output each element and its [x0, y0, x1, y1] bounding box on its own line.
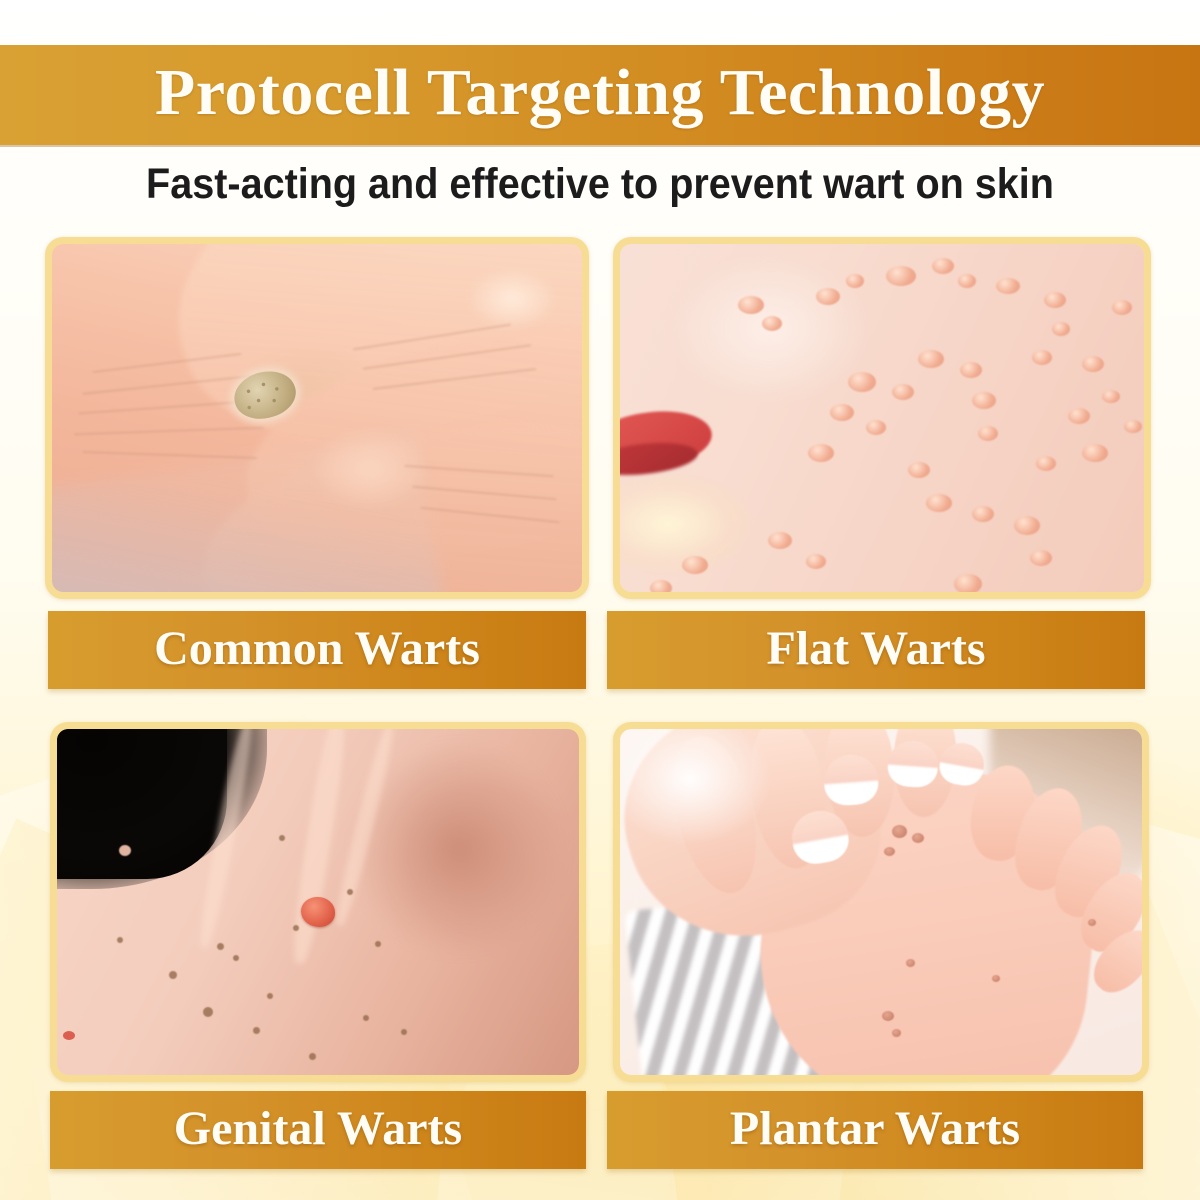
card-label-text: Genital Warts [174, 1105, 462, 1156]
card-label-genital-warts: Genital Warts [50, 1091, 586, 1169]
photo-shape-table-shadow [52, 430, 443, 592]
photo-feature-mole [233, 955, 239, 961]
photo-feature-plantar-wart [892, 825, 907, 838]
photo-shape-skin-crease [412, 486, 557, 501]
photo-feature-mole [267, 993, 273, 999]
photo-feature-flat-wart [682, 556, 708, 574]
photo-feature-flat-wart [1014, 516, 1040, 535]
promo-banner-page: Protocell Targeting Technology Fast-acti… [0, 0, 1200, 1200]
photo-feature-mole [375, 941, 381, 947]
photo-shape-skin-crease [420, 507, 559, 524]
photo-feature-flat-wart [848, 372, 876, 392]
photo-feature-flat-wart [972, 506, 994, 522]
photo-frame-plantar-warts [613, 722, 1149, 1082]
photo-feature-flat-wart [1044, 292, 1066, 308]
photo-feature-flat-wart [1082, 444, 1108, 462]
photo-shape-highlight [620, 729, 800, 869]
photo-shape-chin-highlight [620, 476, 748, 572]
photo-feature-flat-wart [1102, 390, 1120, 403]
photo-feature-flat-wart [958, 274, 976, 288]
photo-shape-skin-crease [82, 375, 251, 395]
photo-feature-flat-wart [650, 580, 672, 592]
photo-shape-skin-crease [404, 465, 554, 477]
photo-feature-flat-wart [954, 574, 982, 592]
card-label-text: Plantar Warts [730, 1105, 1020, 1156]
photo-feature-plantar-wart [912, 833, 924, 843]
photo-shape-skin-crease [353, 323, 511, 350]
photo-feature-red-spot [63, 1031, 75, 1040]
card-label-flat-warts: Flat Warts [607, 611, 1145, 689]
photo-feature-mole [253, 1027, 260, 1034]
photo-feature-flat-wart [886, 266, 916, 286]
photo-feature-mole [363, 1015, 369, 1021]
photo-feature-plantar-wart [892, 1029, 901, 1037]
photo-feature-flat-wart [932, 258, 954, 274]
photo-shape-skin-crease [363, 344, 532, 370]
photo-feature-mole [117, 937, 123, 943]
photo-feature-flat-wart [978, 426, 998, 441]
photo-shape-skin-crease [92, 353, 241, 373]
card-label-common-warts: Common Warts [48, 611, 586, 689]
photo-feature-flat-wart [1052, 322, 1070, 336]
photo-feature-flat-wart [1030, 550, 1052, 566]
photo-feature-mole [293, 925, 299, 931]
page-title: Protocell Targeting Technology [155, 60, 1045, 130]
photo-flat-warts [620, 244, 1144, 592]
photo-feature-flat-wart [1112, 300, 1132, 315]
photo-feature-mole [401, 1029, 407, 1035]
photo-feature-skin-tag [119, 845, 131, 856]
photo-feature-mole [347, 889, 353, 895]
photo-frame-common-warts [45, 237, 589, 599]
photo-feature-flat-wart [908, 462, 930, 478]
photo-feature-mole [279, 835, 285, 841]
photo-genital-warts [57, 729, 579, 1075]
photo-feature-flat-wart [762, 316, 782, 331]
photo-feature-plantar-wart [906, 959, 915, 967]
photo-feature-flat-wart [926, 494, 952, 512]
photo-common-warts [52, 244, 582, 592]
photo-feature-mole [309, 1053, 316, 1060]
card-label-plantar-warts: Plantar Warts [607, 1091, 1143, 1169]
page-subtitle: Fast-acting and effective to prevent war… [48, 158, 1152, 210]
photo-feature-plantar-wart [884, 847, 895, 856]
photo-feature-flat-wart [960, 362, 982, 378]
photo-feature-mole [203, 1007, 213, 1017]
header-banner: Protocell Targeting Technology [0, 45, 1200, 145]
card-label-text: Flat Warts [766, 625, 985, 676]
photo-feature-mole [217, 943, 224, 950]
photo-feature-plantar-wart [1088, 919, 1096, 926]
photo-feature-plantar-wart [882, 1011, 894, 1021]
photo-feature-flat-wart [816, 288, 840, 305]
photo-feature-flat-wart [808, 444, 834, 462]
photo-feature-flat-wart [806, 554, 826, 569]
photo-feature-mole [169, 971, 177, 979]
photo-feature-flat-wart [830, 404, 854, 421]
photo-feature-flat-wart [972, 392, 996, 409]
photo-feature-flat-wart [846, 274, 864, 288]
photo-feature-wart [301, 897, 335, 927]
photo-shape-skin-crease [82, 451, 257, 459]
photo-feature-flat-wart [1124, 420, 1142, 433]
photo-feature-flat-wart [918, 350, 944, 368]
photo-shape-cheek-highlight [630, 244, 910, 434]
photo-shape-skin-crease [372, 368, 536, 390]
photo-feature-flat-wart [768, 532, 792, 549]
photo-shape-skin-crease [74, 427, 264, 436]
photo-frame-flat-warts [613, 237, 1151, 599]
photo-feature-flat-wart [892, 384, 914, 400]
photo-plantar-warts [620, 729, 1142, 1075]
photo-feature-flat-wart [1032, 350, 1052, 365]
photo-feature-flat-wart [866, 420, 886, 435]
photo-frame-genital-warts [50, 722, 586, 1082]
photo-feature-flat-wart [1082, 356, 1104, 372]
photo-feature-wart [229, 365, 300, 425]
photo-feature-flat-wart [738, 296, 764, 314]
card-label-text: Common Warts [154, 625, 480, 676]
photo-feature-flat-wart [996, 278, 1020, 294]
photo-feature-flat-wart [1068, 408, 1090, 424]
photo-feature-plantar-wart [992, 975, 1000, 982]
photo-feature-flat-wart [1036, 456, 1056, 471]
